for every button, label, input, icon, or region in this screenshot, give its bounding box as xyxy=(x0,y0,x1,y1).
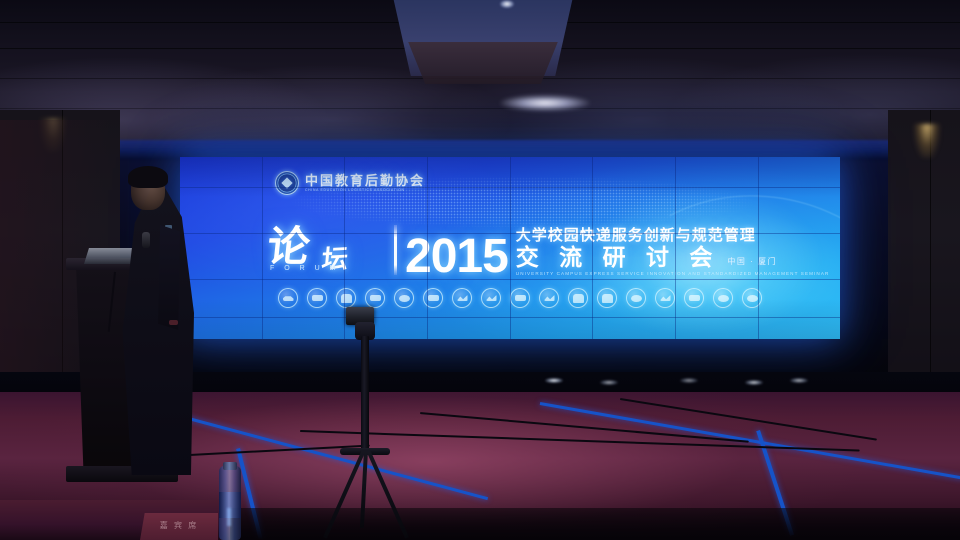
ceiling-pin-light xyxy=(500,0,514,8)
stage-edge-light xyxy=(745,380,763,385)
box-icon xyxy=(510,288,530,308)
panel-seam xyxy=(180,233,840,234)
headline-line-2: 交 流 研 讨 会 xyxy=(516,246,720,269)
panel-seam xyxy=(180,187,840,188)
panel-seam xyxy=(592,157,593,339)
leaf-icon xyxy=(655,288,675,308)
event-year: 2015 xyxy=(405,236,508,277)
association-emblem xyxy=(275,171,299,195)
panel-seam xyxy=(427,157,428,339)
clock-icon xyxy=(394,288,414,308)
card-icon xyxy=(307,288,327,308)
panel-seam xyxy=(180,279,840,280)
panel-seam xyxy=(180,317,840,318)
led-video-wall: 中国教育后勤协会 CHINA EDUCATION LOGISTICS ASSOC… xyxy=(180,157,840,339)
panel-seam xyxy=(262,157,263,339)
ceiling-seam xyxy=(0,108,960,109)
globe-icon xyxy=(626,288,646,308)
service-icon-strip xyxy=(278,288,762,308)
presenter-hair xyxy=(128,166,168,188)
truck-icon xyxy=(481,288,501,308)
event-headline: 大学校园快递服务创新与规范管理 交 流 研 讨 会 中国 · 厦门 UNIVER… xyxy=(516,228,830,279)
ceiling-beam-shadow xyxy=(398,42,568,84)
train-icon xyxy=(423,288,443,308)
nameplate-text: 嘉 宾 席 xyxy=(146,520,212,531)
plane-icon xyxy=(452,288,472,308)
bag-icon xyxy=(597,288,617,308)
envelope-icon xyxy=(684,288,704,308)
headline-line-1: 大学校园快递服务创新与规范管理 xyxy=(516,228,830,243)
handheld-microphone xyxy=(142,232,150,248)
wall-sconce xyxy=(914,124,940,158)
event-location: 中国 · 厦门 xyxy=(727,258,777,269)
bottle-highlight xyxy=(227,508,231,526)
panel-seam xyxy=(675,157,676,339)
bottle-cap xyxy=(223,462,237,470)
headline-english: UNIVERSITY CAMPUS EXPRESS SERVICE INNOVA… xyxy=(516,272,830,277)
panel-seam xyxy=(344,157,345,339)
headline-line-2-row: 交 流 研 讨 会 中国 · 厦门 xyxy=(516,246,830,269)
stage-edge-light xyxy=(680,378,698,383)
stage-edge-light xyxy=(545,378,563,383)
stage-edge-light xyxy=(790,378,808,383)
panel-seam xyxy=(758,157,759,339)
stage-edge-light xyxy=(600,380,618,385)
person-icon xyxy=(336,288,356,308)
book-icon xyxy=(568,288,588,308)
association-text: 中国教育后勤协会 CHINA EDUCATION LOGISTICS ASSOC… xyxy=(305,174,425,192)
tripod-center-column xyxy=(361,336,369,450)
screen-icon xyxy=(365,288,385,308)
association-name-cn: 中国教育后勤协会 xyxy=(305,174,425,187)
forum-calligraphy-mark: 论 坛 F O R U M xyxy=(268,217,390,279)
ship-icon xyxy=(539,288,559,308)
panel-seam xyxy=(510,157,511,339)
presenter-arm xyxy=(158,225,180,330)
mountain-icon xyxy=(278,288,298,308)
ceiling-spotlight xyxy=(500,95,590,111)
association-logo: 中国教育后勤协会 CHINA EDUCATION LOGISTICS ASSOC… xyxy=(275,171,425,195)
search-icon xyxy=(713,288,733,308)
presenter-wristwatch xyxy=(169,320,178,325)
event-title-block: 论 坛 F O R U M 2015 大学校园快递服务创新与规范管理 交 流 研… xyxy=(268,217,829,279)
conference-photo: 中国教育后勤协会 CHINA EDUCATION LOGISTICS ASSOC… xyxy=(0,0,960,540)
association-name-en: CHINA EDUCATION LOGISTICS ASSOCIATION xyxy=(305,189,425,192)
forum-label-en: F O R U M xyxy=(270,265,339,272)
info-icon xyxy=(742,288,762,308)
